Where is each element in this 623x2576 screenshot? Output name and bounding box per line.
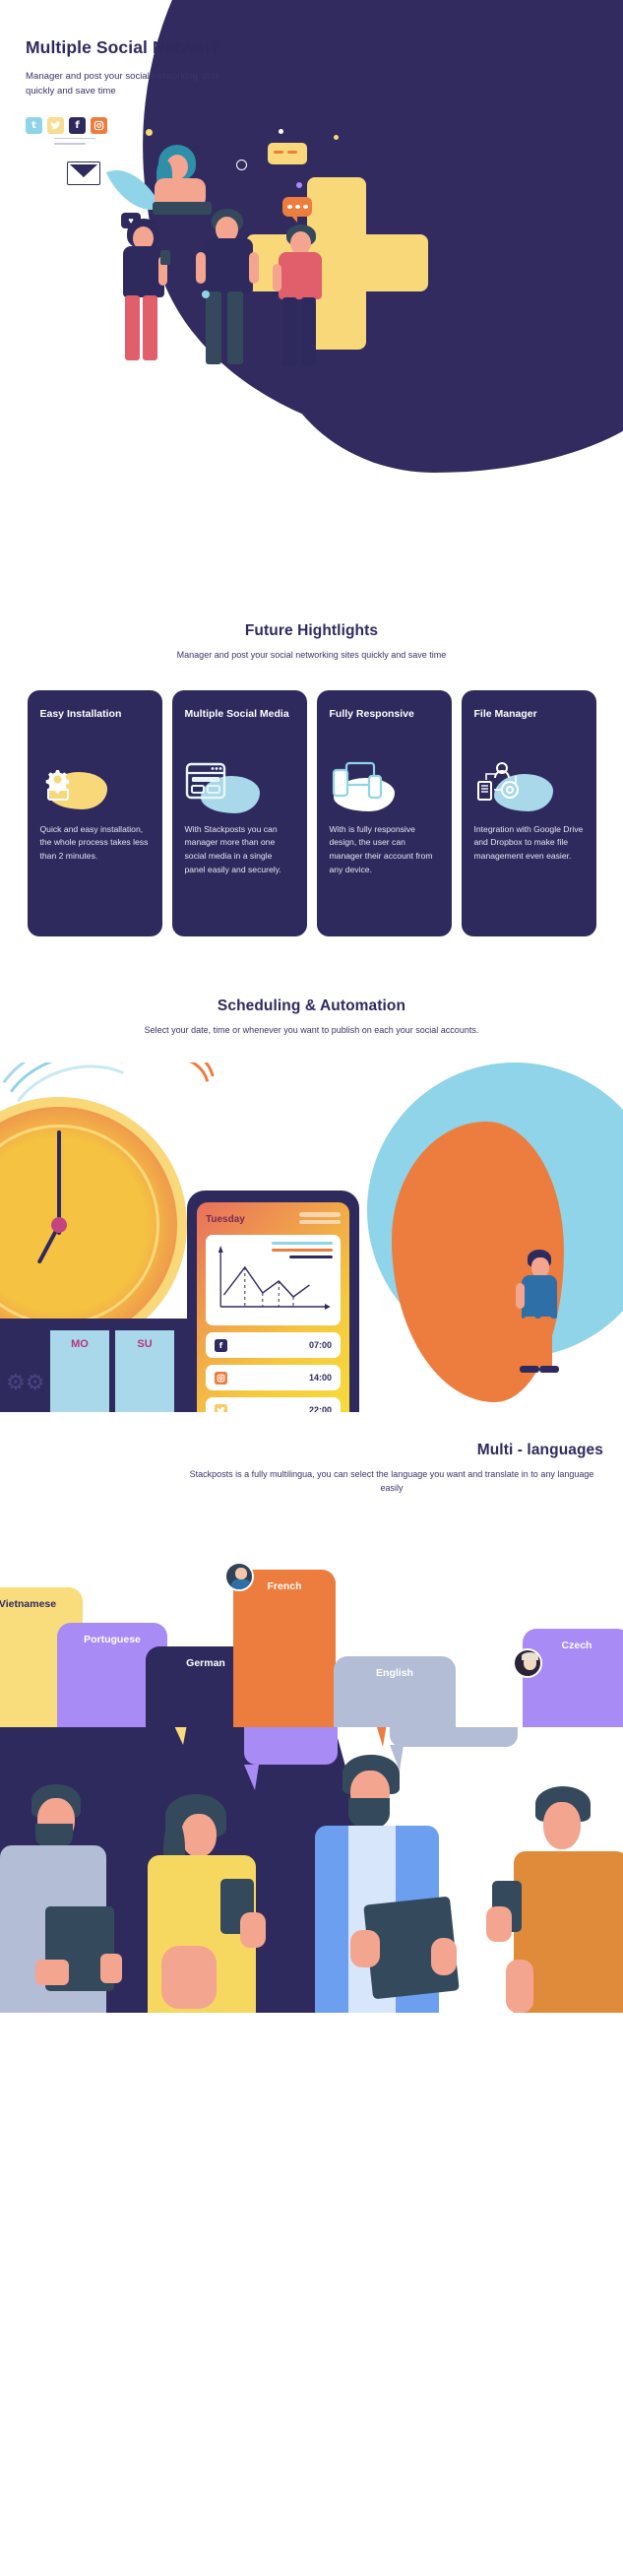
language-label: Vietnamese (0, 1598, 56, 1610)
decor-dot-blue (202, 290, 210, 298)
twitter-icon[interactable] (47, 117, 64, 134)
language-label: English (376, 1667, 413, 1679)
facebook-icon[interactable]: f (69, 117, 86, 134)
page-title: Multiple Social Network (26, 37, 350, 59)
heart-icon: ♥ (121, 213, 141, 228)
feature-card-body: Integration with Google Drive and Dropbo… (474, 823, 584, 865)
feature-card-title: Easy Installation (40, 707, 150, 752)
hero-subtitle: Manager and post your social networking … (26, 70, 237, 99)
devices-icon (330, 752, 439, 819)
feature-card-body: With is fully responsive design, the use… (330, 823, 439, 878)
highlights-title: Future Hightlights (0, 622, 623, 640)
hero-text-block: Multiple Social Network Manager and post… (26, 37, 350, 134)
feature-card-list: Easy Installation Quick and easy install… (0, 690, 623, 936)
illustration-person-3 (315, 1755, 463, 2013)
feature-card-easy-installation[interactable]: Easy Installation Quick and easy install… (28, 690, 162, 936)
phone-screen: Tuesday (197, 1202, 349, 1412)
phone-chart (206, 1235, 341, 1325)
social-icon-row: t f (26, 117, 350, 134)
language-bubble-french[interactable]: French (233, 1570, 336, 1747)
calendar-day-mo[interactable]: MO (50, 1330, 109, 1412)
bubble-tail-orange (374, 1727, 388, 1747)
instagram-icon[interactable] (91, 117, 107, 134)
illustration-person-1 (10, 1784, 138, 2013)
illustration-person-left (113, 219, 192, 376)
decor-dot-yellow-2 (334, 135, 339, 140)
feature-card-file-manager[interactable]: File Manager (462, 690, 596, 936)
schedule-time: 22:00 (309, 1405, 332, 1412)
decor-ring-white (236, 160, 247, 170)
highlights-subtitle: Manager and post your social networking … (0, 649, 623, 663)
scheduling-section: Scheduling & Automation Select your date… (0, 998, 623, 1413)
decor-dot-yellow (146, 129, 153, 136)
people-illustration-band (0, 1727, 623, 2013)
schedule-row[interactable]: f 07:00 (206, 1332, 341, 1358)
hero-illustration: ♥ (103, 148, 517, 492)
highlights-section: Future Hightlights Manager and post your… (0, 622, 623, 936)
decor-ring-dark (193, 146, 202, 155)
phone-day-label: Tuesday (206, 1214, 245, 1225)
gear-folder-icon (40, 752, 150, 819)
feature-card-body: Quick and easy installation, the whole p… (40, 823, 150, 865)
feature-card-title: Fully Responsive (330, 707, 439, 752)
gear-icon: ⚙⚙ (6, 1370, 44, 1395)
avatar (224, 1562, 254, 1591)
scheduling-subtitle: Select your date, time or whenever you w… (0, 1024, 623, 1038)
illustration-person-scheduling (510, 1250, 569, 1378)
feature-card-body: With Stackposts you can manager more tha… (185, 823, 294, 878)
chat-bubble-icon (282, 197, 312, 217)
twitter-icon (215, 1404, 227, 1413)
feature-card-title: File Manager (474, 707, 584, 752)
clock-illustration (0, 1097, 187, 1353)
phone-header: Tuesday (206, 1212, 341, 1227)
schedule-row[interactable]: 14:00 (206, 1365, 341, 1390)
avatar (513, 1648, 542, 1678)
bubble-tail-yellow (171, 1727, 188, 1745)
language-bubble-group: Vietnamese Portuguese German French Engl… (0, 1530, 623, 1727)
language-label: Czech (562, 1640, 592, 1651)
file-gear-user-icon (474, 752, 584, 819)
phone-mockup: Tuesday (187, 1191, 359, 1412)
languages-header: Multi - languages Stackposts is a fully … (0, 1442, 623, 1495)
schedule-row[interactable]: 22:00 (206, 1397, 341, 1412)
tumblr-icon[interactable]: t (26, 117, 42, 134)
illustration-person-2 (138, 1794, 285, 2013)
scheduling-title: Scheduling & Automation (0, 998, 623, 1015)
feature-card-multiple-social-media[interactable]: Multiple Social Media W (172, 690, 307, 936)
phone-header-placeholder-bars (299, 1212, 341, 1227)
languages-subtitle: Stackposts is a fully multilingua, you c… (180, 1468, 603, 1495)
languages-section: Multi - languages Stackposts is a fully … (0, 1442, 623, 1727)
hero-section: ♥ Multiple Social Network Manager and po… (0, 0, 623, 591)
decor-dot-white (279, 129, 283, 134)
bubble-tail-purple-point (244, 1765, 259, 1790)
language-label: French (267, 1580, 301, 1592)
landing-page: ♥ Multiple Social Network Manager and po… (0, 0, 623, 2576)
browser-window-icon (185, 752, 294, 819)
calendar-day-su[interactable]: SU (115, 1330, 174, 1412)
envelope-icon (67, 161, 100, 185)
decor-dot-purple (296, 182, 302, 188)
illustration-person-right (269, 225, 347, 392)
decor-lines (54, 138, 95, 149)
illustration-person-4 (492, 1786, 623, 2013)
bubble-tail-gray (390, 1727, 518, 1747)
instagram-icon (215, 1372, 227, 1385)
feature-card-title: Multiple Social Media (185, 707, 294, 752)
facebook-icon: f (215, 1339, 227, 1352)
chart-legend (272, 1242, 333, 1262)
decor-bubble-yellow (268, 143, 307, 164)
feature-card-fully-responsive[interactable]: Fully Responsive With is fully responsiv… (317, 690, 452, 936)
schedule-time: 14:00 (309, 1373, 332, 1383)
schedule-time: 07:00 (309, 1340, 332, 1350)
calendar-strip: MO SU (0, 1319, 192, 1412)
scheduling-illustration: MO SU ⚙⚙ Tuesday (0, 1063, 623, 1412)
highlights-header: Future Hightlights Manager and post your… (0, 622, 623, 663)
language-label: Portuguese (84, 1634, 141, 1645)
language-label: German (186, 1657, 225, 1669)
languages-title: Multi - languages (20, 1442, 603, 1459)
scheduling-header: Scheduling & Automation Select your date… (0, 998, 623, 1038)
